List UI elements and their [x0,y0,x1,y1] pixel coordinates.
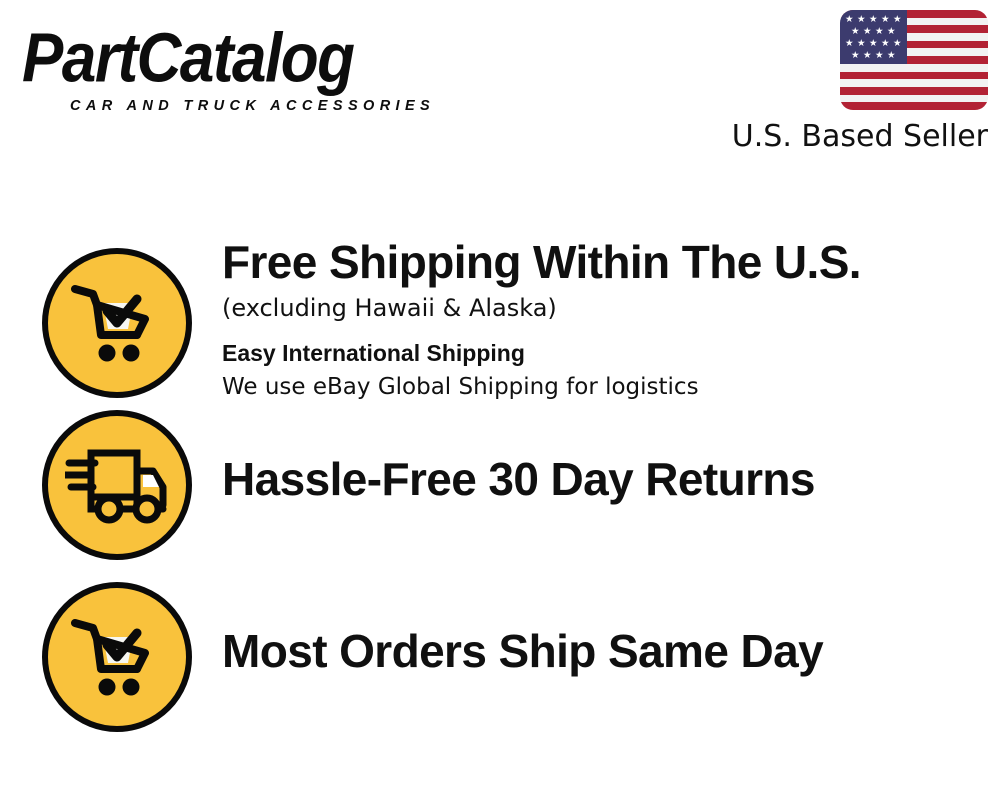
flag-stripe [840,87,988,95]
shopping-cart-check-icon [42,248,192,398]
flag-stripe [840,95,988,103]
feature-text-block: Most Orders Ship Same Day [222,624,980,678]
page-header: PartCatalog CAR AND TRUCK ACCESSORIES ★ … [0,0,1000,175]
brand-logo[interactable]: PartCatalog CAR AND TRUCK ACCESSORIES [22,22,492,112]
feature-text-block: Hassle-Free 30 Day Returns [222,452,980,506]
feature-sub-title: Easy International Shipping [222,337,980,369]
flag-stripe [840,64,988,72]
shopping-cart-check-icon [42,582,192,732]
feature-note: (excluding Hawaii & Alaska) [222,291,980,325]
feature-row: Free Shipping Within The U.S. (excluding… [0,215,1000,405]
brand-wordmark: PartCatalog [22,22,492,96]
us-based-seller-badge: ★ ★ ★ ★ ★ ★ ★ ★ ★ ★ ★ ★ ★ ★ ★ ★ ★ ★ U.S.… [713,10,988,154]
feature-icon-same-day [42,582,192,732]
feature-title: Free Shipping Within The U.S. [222,235,980,289]
feature-title: Most Orders Ship Same Day [222,624,980,678]
feature-icon-returns [42,410,192,560]
flag-stripe [840,102,988,110]
feature-sub-note: We use eBay Global Shipping for logistic… [222,371,980,403]
flag-stripe [840,79,988,87]
feature-title: Hassle-Free 30 Day Returns [222,452,980,506]
brand-tagline: CAR AND TRUCK ACCESSORIES [70,98,435,114]
flag-canton: ★ ★ ★ ★ ★ ★ ★ ★ ★ ★ ★ ★ ★ ★ ★ ★ ★ ★ [840,10,907,64]
us-flag-icon: ★ ★ ★ ★ ★ ★ ★ ★ ★ ★ ★ ★ ★ ★ ★ ★ ★ ★ [840,10,988,110]
feature-row: Most Orders Ship Same Day [0,577,1000,749]
feature-text-block: Free Shipping Within The U.S. (excluding… [222,235,980,403]
flag-stripe [840,72,988,80]
feature-icon-free-shipping [42,248,192,398]
delivery-truck-icon [42,410,192,560]
feature-row: Hassle-Free 30 Day Returns [0,405,1000,577]
us-based-seller-label: U.S. Based Seller [713,119,988,154]
